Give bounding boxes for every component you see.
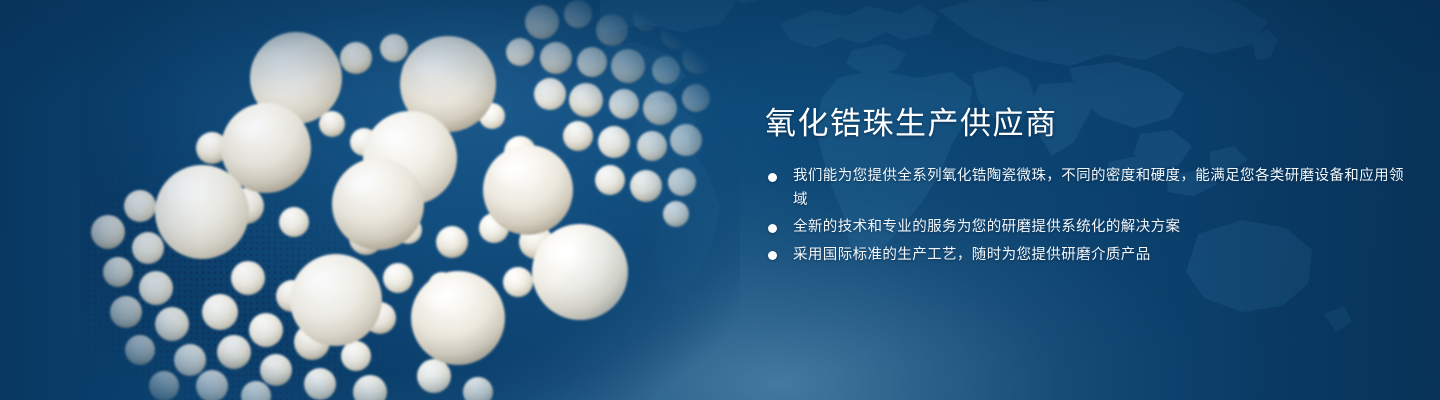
- list-item: 采用国际标准的生产工艺，随时为您提供研磨介质产品: [765, 244, 1405, 268]
- list-item: 我们能为您提供全系列氧化锆陶瓷微珠，不同的密度和硬度，能满足您各类研磨设备和应用…: [765, 165, 1405, 212]
- banner-copy: 氧化锆珠生产供应商 我们能为您提供全系列氧化锆陶瓷微珠，不同的密度和硬度，能满足…: [765, 104, 1405, 267]
- feature-text: 采用国际标准的生产工艺，随时为您提供研磨介质产品: [793, 244, 1405, 268]
- feature-list: 我们能为您提供全系列氧化锆陶瓷微珠，不同的密度和硬度，能满足您各类研磨设备和应用…: [765, 165, 1405, 267]
- page-title: 氧化锆珠生产供应商: [765, 104, 1405, 144]
- hero-banner: 氧化锆珠生产供应商 我们能为您提供全系列氧化锆陶瓷微珠，不同的密度和硬度，能满足…: [0, 0, 1440, 400]
- feature-text: 全新的技术和专业的服务为您的研磨提供系统化的解决方案: [793, 216, 1405, 240]
- bullet-circle-icon: [768, 251, 777, 260]
- bullet-circle-icon: [768, 173, 777, 182]
- feature-text: 我们能为您提供全系列氧化锆陶瓷微珠，不同的密度和硬度，能满足您各类研磨设备和应用…: [793, 165, 1405, 212]
- bullet-circle-icon: [768, 224, 777, 233]
- list-item: 全新的技术和专业的服务为您的研磨提供系统化的解决方案: [765, 216, 1405, 240]
